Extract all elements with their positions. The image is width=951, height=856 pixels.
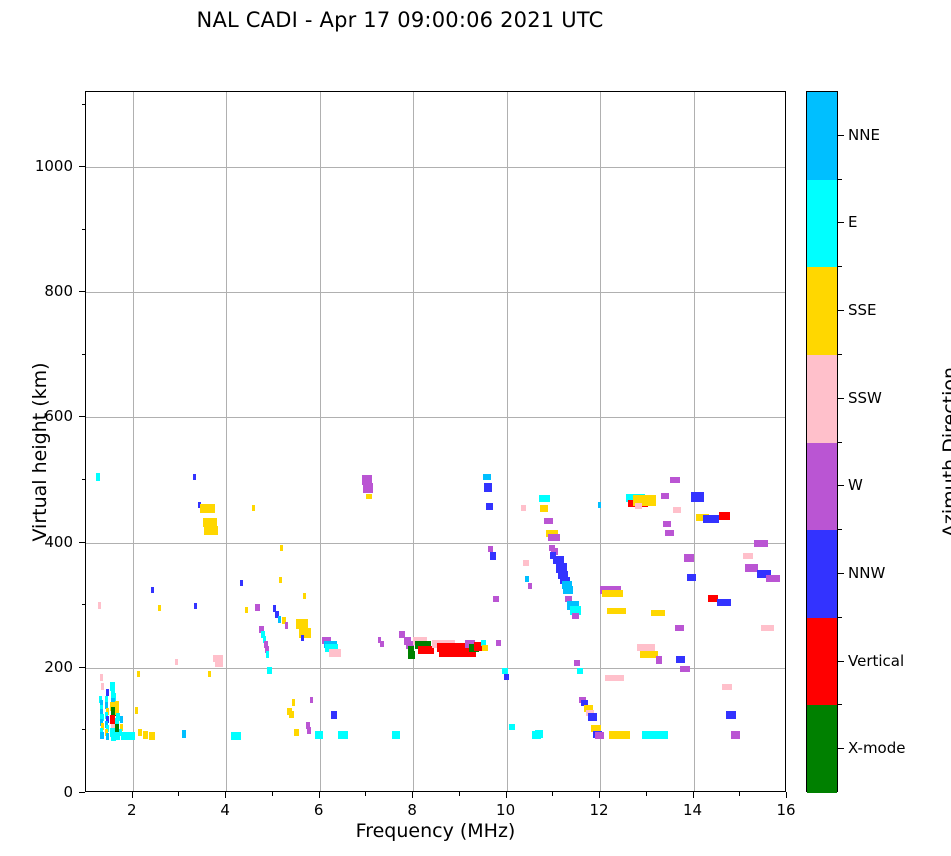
figure-title: NAL CADI - Apr 17 09:00:06 2021 UTC — [0, 8, 800, 32]
y-axis-tick — [79, 667, 85, 668]
data-point — [392, 731, 400, 739]
colorbar-tick — [838, 661, 844, 662]
colorbar-title: Azimuth Direction — [939, 292, 951, 612]
data-point — [100, 674, 103, 681]
data-point — [175, 659, 178, 665]
data-point — [673, 507, 681, 513]
data-point — [366, 494, 372, 499]
data-point — [717, 599, 731, 606]
data-point — [98, 602, 101, 609]
data-point — [106, 733, 109, 740]
data-point — [676, 656, 685, 663]
gridline-horizontal — [86, 543, 785, 544]
gridline-vertical — [133, 92, 134, 791]
x-axis-tick-label: 12 — [590, 801, 609, 819]
data-point — [100, 732, 103, 739]
x-axis-minor-tick — [178, 792, 179, 796]
data-point — [544, 518, 553, 524]
x-axis-tick — [132, 792, 133, 798]
data-point — [687, 574, 696, 581]
data-point — [743, 553, 753, 559]
data-point — [292, 699, 296, 706]
y-axis-minor-tick — [82, 104, 86, 105]
data-point — [193, 474, 196, 480]
y-axis-label: Virtual height (km) — [29, 302, 51, 602]
colorbar-label-nne: NNE — [848, 126, 880, 144]
data-point — [331, 711, 337, 719]
x-axis-tick — [506, 792, 507, 798]
data-point — [266, 651, 269, 658]
data-point — [194, 603, 197, 609]
data-point — [240, 580, 243, 586]
gridline-horizontal — [86, 417, 785, 418]
data-point — [691, 492, 704, 502]
data-point — [279, 577, 282, 583]
colorbar-segment-w — [807, 443, 837, 531]
data-point — [535, 730, 543, 738]
data-point — [528, 583, 533, 589]
data-point — [548, 534, 560, 541]
data-point — [289, 711, 294, 718]
data-point — [143, 731, 148, 739]
colorbar-segment-nne — [807, 92, 837, 180]
gridline-horizontal — [86, 167, 785, 168]
data-point — [761, 625, 774, 631]
data-point — [490, 552, 496, 560]
data-point — [675, 625, 684, 631]
x-axis-tick-label: 16 — [776, 801, 795, 819]
data-point — [101, 683, 104, 690]
x-axis-tick-label: 2 — [127, 801, 137, 819]
x-axis-minor-tick — [552, 792, 553, 796]
data-point — [651, 610, 664, 616]
data-point — [539, 495, 549, 502]
y-axis-tick-label: 200 — [5, 658, 73, 676]
data-point — [245, 607, 248, 613]
data-point — [661, 493, 669, 499]
colorbar-segment-nnw — [807, 530, 837, 618]
colorbar-label-vertical: Vertical — [848, 652, 904, 670]
data-point — [482, 645, 488, 651]
data-point — [338, 731, 347, 739]
y-axis-tick-label: 1000 — [5, 157, 73, 175]
gridline-vertical — [413, 92, 414, 791]
colorbar-segment-vertical — [807, 618, 837, 706]
gridline-vertical — [320, 92, 321, 791]
data-point — [680, 666, 690, 672]
data-point — [719, 512, 729, 520]
colorbar-label-x-mode: X-mode — [848, 739, 905, 757]
gridline-vertical — [694, 92, 695, 791]
data-point — [294, 729, 299, 736]
data-point — [231, 732, 241, 740]
colorbar-label-ssw: SSW — [848, 389, 882, 407]
data-point — [329, 649, 341, 657]
data-point — [731, 731, 740, 739]
data-point — [149, 732, 155, 740]
data-point — [128, 732, 135, 740]
data-point — [408, 651, 415, 659]
colorbar-tick — [838, 310, 844, 311]
colorbar-tick — [838, 222, 844, 223]
x-axis-minor-tick — [646, 792, 647, 796]
data-point — [572, 613, 579, 619]
data-point — [280, 545, 283, 551]
colorbar-label-sse: SSE — [848, 301, 877, 319]
data-point — [665, 530, 673, 536]
data-point — [138, 729, 141, 736]
colorbar-tick — [838, 135, 844, 136]
data-point — [137, 671, 140, 677]
data-point — [135, 707, 138, 714]
data-point — [642, 731, 668, 739]
data-point — [380, 641, 383, 647]
data-point — [607, 608, 626, 614]
data-point — [598, 502, 601, 508]
x-axis-tick-label: 14 — [683, 801, 702, 819]
data-point — [486, 503, 493, 510]
x-axis-tick — [319, 792, 320, 798]
data-point — [726, 711, 735, 719]
y-axis-minor-tick — [82, 354, 86, 355]
data-point — [766, 575, 780, 582]
x-axis-tick — [786, 792, 787, 798]
data-point — [363, 483, 373, 493]
colorbar-tick — [838, 398, 844, 399]
data-point — [200, 504, 214, 513]
x-axis-tick — [693, 792, 694, 798]
data-point — [684, 554, 693, 562]
colorbar-boundary-tick — [838, 704, 842, 705]
data-point — [285, 622, 289, 629]
data-point — [496, 640, 501, 646]
x-axis-tick — [225, 792, 226, 798]
x-axis-tick-label: 8 — [407, 801, 417, 819]
data-point — [609, 731, 630, 739]
y-axis-minor-tick — [82, 229, 86, 230]
gridline-vertical — [507, 92, 508, 791]
data-point — [255, 604, 260, 611]
y-axis-tick — [79, 291, 85, 292]
data-point — [588, 713, 596, 721]
x-axis-tick-label: 4 — [220, 801, 230, 819]
data-point — [509, 724, 515, 730]
y-axis-tick — [79, 542, 85, 543]
y-axis-minor-tick — [82, 479, 86, 480]
y-axis-tick-label: 800 — [5, 282, 73, 300]
data-point — [602, 590, 623, 597]
data-point — [656, 656, 662, 664]
x-axis-minor-tick — [272, 792, 273, 796]
data-point — [215, 660, 223, 667]
colorbar-segment-e — [807, 180, 837, 268]
plot-area — [85, 91, 786, 792]
data-point — [151, 587, 154, 593]
data-point — [310, 697, 313, 703]
data-point — [252, 505, 255, 511]
data-point — [504, 674, 509, 680]
colorbar-tick — [838, 573, 844, 574]
data-point — [182, 730, 187, 738]
colorbar-segment-ssw — [807, 355, 837, 443]
colorbar-label-e: E — [848, 213, 857, 231]
data-point — [540, 505, 547, 512]
x-axis-minor-tick — [459, 792, 460, 796]
colorbar-boundary-tick — [838, 266, 842, 267]
y-axis-tick — [79, 416, 85, 417]
data-point — [635, 503, 642, 509]
data-point — [303, 593, 306, 599]
x-axis-tick — [412, 792, 413, 798]
colorbar — [806, 91, 838, 792]
colorbar-tick — [838, 485, 844, 486]
colorbar-boundary-tick — [838, 529, 842, 530]
data-point — [640, 651, 658, 658]
data-point — [502, 668, 508, 674]
y-axis-minor-tick — [82, 604, 86, 605]
data-point — [605, 675, 625, 681]
colorbar-tick — [838, 748, 844, 749]
gridline-horizontal — [86, 292, 785, 293]
colorbar-label-nnw: NNW — [848, 564, 885, 582]
x-axis-tick-label: 10 — [496, 801, 515, 819]
data-point — [204, 526, 218, 535]
data-point — [523, 560, 529, 566]
data-point — [722, 684, 732, 690]
data-point — [703, 515, 719, 523]
data-point — [158, 605, 161, 611]
data-point — [483, 474, 490, 480]
colorbar-boundary-tick — [838, 354, 842, 355]
data-point — [754, 540, 768, 547]
data-point — [493, 596, 499, 602]
ionogram-figure: NAL CADI - Apr 17 09:00:06 2021 UTC 2468… — [0, 0, 951, 856]
data-point — [577, 668, 584, 674]
x-axis-tick-label: 6 — [314, 801, 324, 819]
x-axis-minor-tick — [739, 792, 740, 796]
colorbar-segment-sse — [807, 267, 837, 355]
data-point — [525, 576, 529, 582]
gridline-vertical — [600, 92, 601, 791]
data-point — [315, 731, 323, 739]
data-point — [278, 616, 281, 623]
y-axis-tick-label: 0 — [5, 783, 73, 801]
data-point — [574, 660, 580, 666]
data-point — [208, 671, 211, 677]
data-point — [96, 473, 100, 481]
data-point — [120, 716, 123, 723]
data-point — [301, 635, 304, 641]
data-point — [595, 732, 603, 739]
data-point — [521, 505, 527, 511]
x-axis-label: Frequency (MHz) — [85, 820, 786, 842]
y-axis-tick — [79, 792, 85, 793]
colorbar-boundary-tick — [838, 442, 842, 443]
data-point — [484, 483, 491, 492]
x-axis-tick — [599, 792, 600, 798]
data-point — [307, 727, 312, 734]
data-point — [670, 477, 680, 483]
gridline-vertical — [226, 92, 227, 791]
data-point — [488, 546, 493, 552]
colorbar-boundary-tick — [838, 179, 842, 180]
y-axis-tick — [79, 166, 85, 167]
colorbar-boundary-tick — [838, 617, 842, 618]
data-point — [563, 586, 573, 594]
colorbar-label-w: W — [848, 476, 863, 494]
data-point — [267, 667, 272, 674]
colorbar-segment-x-mode — [807, 705, 837, 793]
y-axis-minor-tick — [82, 729, 86, 730]
data-point — [663, 521, 670, 527]
x-axis-minor-tick — [365, 792, 366, 796]
